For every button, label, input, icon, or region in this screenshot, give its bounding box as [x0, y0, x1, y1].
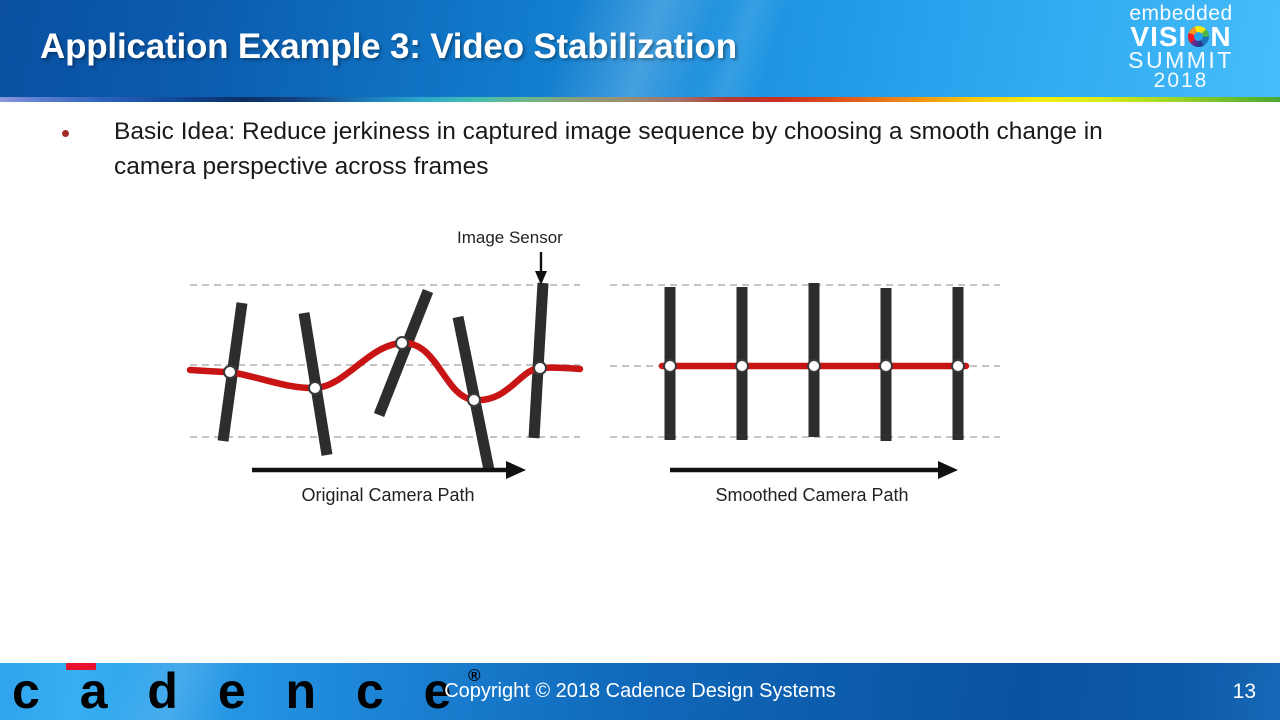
page-number: 13 [1233, 680, 1256, 704]
image-sensor-label: Image Sensor [457, 228, 563, 247]
original-camera-path-diagram: Image Sensor Original Camera Path [190, 228, 580, 505]
slide: Application Example 3: Video Stabilizati… [0, 0, 1280, 720]
path-marker [808, 360, 820, 372]
path-marker [952, 360, 964, 372]
bullet-text: Basic Idea: Reduce jerkiness in captured… [114, 115, 1149, 185]
path-marker [534, 362, 546, 374]
axis-arrow-head [506, 461, 526, 479]
slide-header: Application Example 3: Video Stabilizati… [0, 0, 1280, 97]
smoothed-path-axis: Smoothed Camera Path [670, 461, 958, 505]
slide-footer: c a d e n c e ® Copyright © 2018 Cadence… [0, 663, 1280, 720]
path-marker [736, 360, 748, 372]
page-title: Application Example 3: Video Stabilizati… [40, 27, 737, 67]
path-marker [309, 382, 321, 394]
original-path-axis-label: Original Camera Path [301, 485, 474, 505]
path-marker [224, 366, 236, 378]
embedded-vision-summit-logo: embedded VISI N SUMMIT 2018 [1100, 2, 1262, 94]
sensor-bar [534, 283, 543, 438]
axis-arrow-head [938, 461, 958, 479]
path-marker [880, 360, 892, 372]
logo-line-embedded: embedded [1100, 3, 1262, 24]
sensor-bars-left [223, 283, 543, 470]
copyright-text: Copyright © 2018 Cadence Design Systems [0, 680, 1280, 703]
bullet-list-item: Basic Idea: Reduce jerkiness in captured… [62, 115, 1192, 185]
image-sensor-callout: Image Sensor [457, 228, 563, 285]
path-marker [396, 337, 408, 349]
bullet-marker-icon [62, 130, 69, 137]
logo-line-year: 2018 [1100, 70, 1262, 91]
color-wheel-icon [1188, 26, 1209, 47]
path-marker [468, 394, 480, 406]
header-accent-strip [0, 97, 1280, 102]
cadence-red-bar-icon [66, 663, 96, 670]
smoothed-path-axis-label: Smoothed Camera Path [715, 485, 908, 505]
smoothed-camera-path-diagram: Smoothed Camera Path [610, 283, 1000, 505]
sensor-bar [379, 291, 428, 415]
path-marker [664, 360, 676, 372]
video-stabilization-figure: Image Sensor Original Camera Path [170, 205, 1030, 505]
logo-line-vision: VISI N [1100, 23, 1262, 50]
callout-arrow-head [535, 271, 547, 285]
